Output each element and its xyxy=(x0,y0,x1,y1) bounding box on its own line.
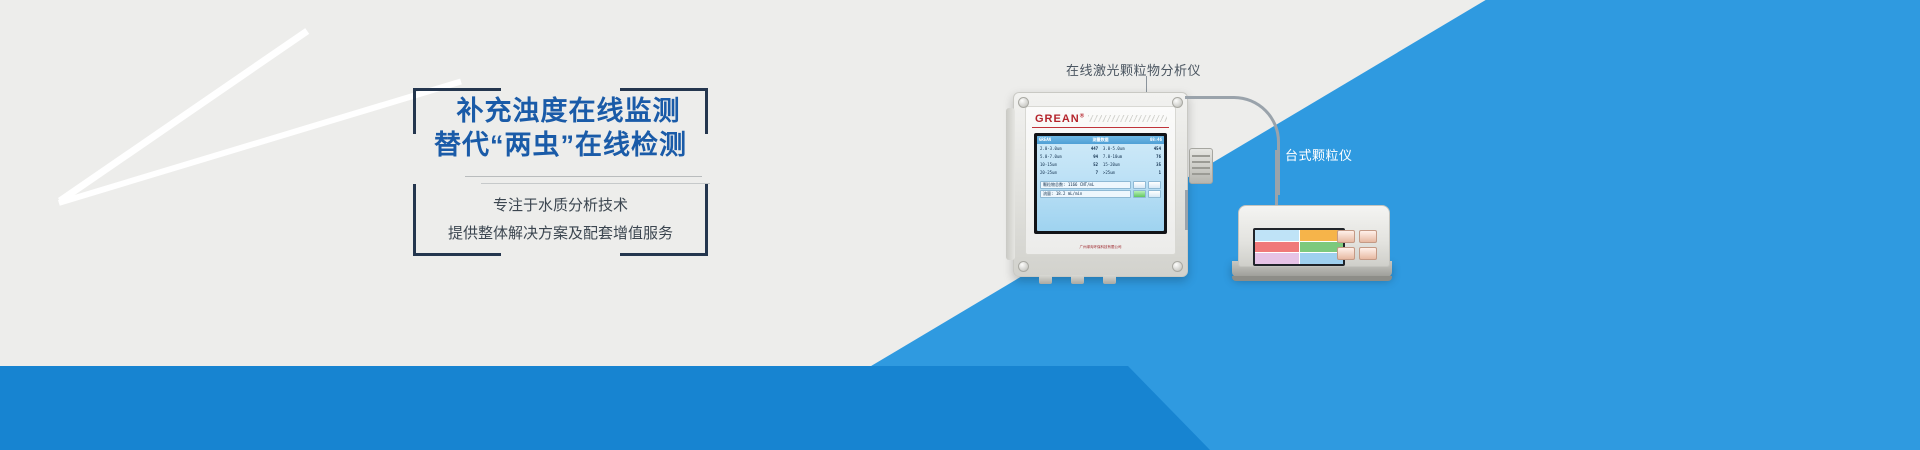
display-footer: 颗粒物总数: 1166 CNT/mL 流量: 18.2 mL/min xyxy=(1037,181,1164,198)
analyzer-manufacturer-note: 广州绿洵环保科技有限公司 xyxy=(1026,245,1175,250)
analyzer-accent-line xyxy=(1032,127,1169,128)
particle-count: 447 xyxy=(1091,146,1098,152)
bench-display[interactable] xyxy=(1255,230,1343,264)
sampling-tube-vertical xyxy=(1275,150,1278,212)
display-row: 20-25um7 >25um1 xyxy=(1040,170,1161,176)
display-cell: 15-20um35 xyxy=(1103,162,1161,168)
frame-corner-bottom-left-horizontal xyxy=(413,253,501,256)
display-title-center: 测量数据 xyxy=(1093,137,1109,143)
analyzer-screen-bezel: GREAN 测量数据 08:46 2.0-3.0um447 3.0-5.0um4… xyxy=(1034,133,1167,234)
particle-count: 7 xyxy=(1096,170,1098,176)
display-title-bar: GREAN 测量数据 08:46 xyxy=(1037,136,1164,144)
bench-key[interactable] xyxy=(1337,247,1355,260)
display-button-settings[interactable] xyxy=(1133,181,1146,189)
size-range: 5.0-7.0um xyxy=(1040,154,1062,160)
headline-block: 补充浊度在线监测 替代“两虫”在线检测 专注于水质分析技术 提供整体解决方案及配… xyxy=(413,88,708,256)
bench-key[interactable] xyxy=(1359,247,1377,260)
bench-counter-label: 台式颗粒仪 xyxy=(1285,145,1353,164)
analyzer-display[interactable]: GREAN 测量数据 08:46 2.0-3.0um447 3.0-5.0um4… xyxy=(1037,136,1164,231)
display-cell: 5.0-7.0um94 xyxy=(1040,154,1098,160)
size-range: 7.0-10um xyxy=(1103,154,1122,160)
enclosure-screw-icon xyxy=(1172,97,1183,108)
size-range: 20-25um xyxy=(1040,170,1057,176)
headline-line-2: 替代“两虫”在线检测 xyxy=(413,128,708,162)
bench-foot xyxy=(1232,276,1392,281)
analyzer-brand-logo: GREAN® xyxy=(1035,113,1085,125)
bench-tile[interactable] xyxy=(1255,253,1299,264)
particle-count: 35 xyxy=(1156,162,1161,168)
bench-keypad[interactable] xyxy=(1337,230,1377,260)
bench-tile[interactable] xyxy=(1255,230,1299,241)
display-cell: 7.0-10um76 xyxy=(1103,154,1161,160)
size-range: >25um xyxy=(1103,170,1115,176)
display-row: 2.0-3.0um447 3.0-5.0um454 xyxy=(1040,146,1161,152)
frame-corner-top-right-horizontal xyxy=(620,88,708,91)
size-range: 2.0-3.0um xyxy=(1040,146,1062,152)
enclosure-screw-icon xyxy=(1018,97,1029,108)
display-data-grid: 2.0-3.0um447 3.0-5.0um454 5.0-7.0um94 7.… xyxy=(1037,144,1164,180)
display-cell: >25um1 xyxy=(1103,170,1161,176)
particle-count: 52 xyxy=(1093,162,1098,168)
display-row: 5.0-7.0um94 7.0-10um76 xyxy=(1040,154,1161,160)
enclosure-screw-icon xyxy=(1172,261,1183,272)
promo-banner: 补充浊度在线监测 替代“两虫”在线检测 专注于水质分析技术 提供整体解决方案及配… xyxy=(0,0,1920,450)
wall-analyzer-leader-line xyxy=(1146,76,1147,92)
display-field-row: 流量: 18.2 mL/min xyxy=(1040,190,1161,198)
divider-rule-primary xyxy=(465,176,702,177)
enclosure-screw-icon xyxy=(1018,261,1029,272)
display-field-row: 颗粒物总数: 1166 CNT/mL xyxy=(1040,181,1161,189)
frame-corner-top-left-horizontal xyxy=(413,88,501,91)
display-title-left: GREAN xyxy=(1039,137,1051,143)
particle-count: 454 xyxy=(1154,146,1161,152)
subtitle-line-2: 提供整体解决方案及配套增值服务 xyxy=(413,220,708,248)
cable-gland xyxy=(1103,275,1116,284)
cable-gland xyxy=(1039,275,1052,284)
wall-analyzer-label: 在线激光颗粒物分析仪 xyxy=(1066,60,1201,79)
subtitle: 专注于水质分析技术 提供整体解决方案及配套增值服务 xyxy=(413,192,708,248)
display-row: 10-15um52 15-20um35 xyxy=(1040,162,1161,168)
size-range: 3.0-5.0um xyxy=(1103,146,1125,152)
size-range: 15-20um xyxy=(1103,162,1120,168)
display-cell: 3.0-5.0um454 xyxy=(1103,146,1161,152)
wall-mounted-analyzer: GREAN® GREAN 测量数据 08:46 2.0-3.0um447 3.0… xyxy=(1013,92,1188,277)
size-range: 10-15um xyxy=(1040,162,1057,168)
analyzer-hinge xyxy=(1006,108,1015,260)
bench-tile[interactable] xyxy=(1255,242,1299,253)
subtitle-line-1: 专注于水质分析技术 xyxy=(413,192,708,220)
display-button-back[interactable] xyxy=(1148,190,1161,198)
bench-key[interactable] xyxy=(1337,230,1355,243)
particle-count: 1 xyxy=(1159,170,1161,176)
bench-housing xyxy=(1238,205,1390,267)
flow-rate-field: 流量: 18.2 mL/min xyxy=(1040,190,1131,198)
display-cell: 10-15um52 xyxy=(1040,162,1098,168)
sampling-tube-arc xyxy=(1185,96,1280,195)
bench-screen-bezel xyxy=(1253,228,1345,266)
sampling-tube-return xyxy=(1185,190,1188,230)
display-cell: 2.0-3.0um447 xyxy=(1040,146,1098,152)
display-button-print[interactable] xyxy=(1133,190,1146,198)
particle-count: 94 xyxy=(1093,154,1098,160)
analyzer-brand-text: GREAN xyxy=(1035,113,1080,125)
particle-count: 76 xyxy=(1156,154,1161,160)
display-clock: 08:46 xyxy=(1150,137,1162,143)
bench-key[interactable] xyxy=(1359,230,1377,243)
benchtop-particle-counter xyxy=(1232,205,1392,277)
analyzer-vent-hatch xyxy=(1088,115,1167,122)
frame-corner-bottom-right-horizontal xyxy=(620,253,708,256)
analyzer-brand-mark: ® xyxy=(1080,113,1085,119)
total-count-field: 颗粒物总数: 1166 CNT/mL xyxy=(1040,181,1131,189)
display-button-query[interactable] xyxy=(1148,181,1161,189)
analyzer-front-panel: GREAN® GREAN 测量数据 08:46 2.0-3.0um447 3.0… xyxy=(1025,106,1176,255)
divider-rule-secondary xyxy=(481,183,710,184)
display-cell: 20-25um7 xyxy=(1040,170,1098,176)
cable-gland xyxy=(1071,275,1084,284)
headline-line-1: 补充浊度在线监测 xyxy=(413,94,708,128)
headline: 补充浊度在线监测 替代“两虫”在线检测 xyxy=(413,94,708,162)
